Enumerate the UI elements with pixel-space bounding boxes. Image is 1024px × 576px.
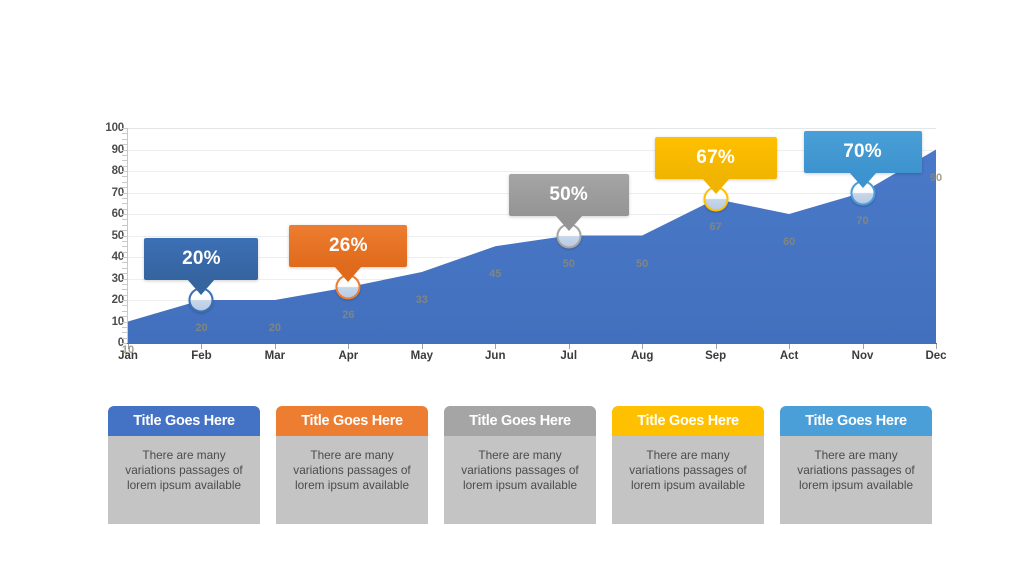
data-point-label: 60 bbox=[783, 236, 795, 248]
y-axis-minor-tick bbox=[122, 225, 127, 226]
y-axis-minor-tick bbox=[122, 279, 127, 280]
y-axis-minor-tick bbox=[122, 311, 127, 312]
card-title: Title Goes Here bbox=[612, 406, 764, 436]
y-axis-tick-label: 0 bbox=[96, 337, 124, 349]
y-axis-tick-label: 90 bbox=[96, 144, 124, 156]
y-axis-tick-label: 50 bbox=[96, 230, 124, 242]
card-body-text: There are many variations passages of lo… bbox=[276, 436, 428, 524]
x-axis-tick-label: Act bbox=[780, 350, 799, 362]
y-axis-minor-tick bbox=[122, 171, 127, 172]
y-axis-minor-tick bbox=[122, 139, 127, 140]
y-axis-minor-tick bbox=[122, 182, 127, 183]
data-point-label: 67 bbox=[710, 221, 722, 233]
x-axis-tick bbox=[348, 344, 349, 349]
y-axis-minor-tick bbox=[122, 193, 127, 194]
data-point-label: 50 bbox=[636, 258, 648, 270]
card-row: Title Goes HereThere are many variations… bbox=[108, 406, 933, 528]
y-axis-minor-tick bbox=[122, 252, 127, 253]
y-axis-minor-tick bbox=[122, 273, 127, 274]
y-axis-minor-tick bbox=[122, 268, 127, 269]
y-axis-minor-tick bbox=[122, 214, 127, 215]
x-axis-tick-label: Sep bbox=[705, 350, 726, 362]
y-axis-tick-label: 20 bbox=[96, 294, 124, 306]
percentage-callout[interactable]: 70% bbox=[804, 131, 922, 173]
percentage-callout[interactable]: 20% bbox=[144, 238, 258, 280]
y-axis-minor-tick bbox=[122, 262, 127, 263]
callout-tail bbox=[702, 178, 730, 194]
callout-tail bbox=[849, 172, 877, 188]
y-axis-tick-label: 40 bbox=[96, 251, 124, 263]
card-body-text: There are many variations passages of lo… bbox=[612, 436, 764, 524]
data-point-label: 90 bbox=[930, 172, 942, 184]
area-chart: 1009080706050403020100 JanFebMarAprMayJu… bbox=[0, 0, 1024, 380]
y-axis-minor-tick bbox=[122, 338, 127, 339]
x-axis-tick bbox=[716, 344, 717, 349]
info-card[interactable]: Title Goes HereThere are many variations… bbox=[108, 406, 260, 524]
y-axis-minor-tick bbox=[122, 128, 127, 129]
x-axis-tick bbox=[642, 344, 643, 349]
y-axis-minor-tick bbox=[122, 241, 127, 242]
y-axis-minor-tick bbox=[122, 198, 127, 199]
y-axis-minor-tick bbox=[122, 150, 127, 151]
x-axis-tick bbox=[863, 344, 864, 349]
x-axis-tick-label: Aug bbox=[631, 350, 653, 362]
info-card[interactable]: Title Goes HereThere are many variations… bbox=[444, 406, 596, 524]
y-axis-minor-tick bbox=[122, 160, 127, 161]
card-body-text: There are many variations passages of lo… bbox=[444, 436, 596, 524]
x-axis-tick-label: Jul bbox=[560, 350, 577, 362]
y-axis-tick-label: 30 bbox=[96, 273, 124, 285]
card-body-text: There are many variations passages of lo… bbox=[780, 436, 932, 524]
data-point-label: 33 bbox=[416, 294, 428, 306]
x-axis-tick bbox=[789, 344, 790, 349]
data-point-label: 26 bbox=[342, 309, 354, 321]
info-card[interactable]: Title Goes HereThere are many variations… bbox=[276, 406, 428, 524]
y-axis-minor-tick bbox=[122, 246, 127, 247]
x-axis-tick-label: Apr bbox=[338, 350, 358, 362]
x-axis-tick bbox=[422, 344, 423, 349]
x-axis-tick bbox=[569, 344, 570, 349]
y-axis-tick-label: 70 bbox=[96, 187, 124, 199]
y-axis-minor-tick bbox=[122, 203, 127, 204]
card-body-text: There are many variations passages of lo… bbox=[108, 436, 260, 524]
y-axis-minor-tick bbox=[122, 219, 127, 220]
y-axis: 1009080706050403020100 bbox=[96, 0, 124, 380]
callout-tail bbox=[187, 279, 215, 295]
y-axis-minor-tick bbox=[122, 166, 127, 167]
card-title: Title Goes Here bbox=[108, 406, 260, 436]
y-axis-minor-tick bbox=[122, 236, 127, 237]
data-point-label: 20 bbox=[195, 322, 207, 334]
y-axis-tick-label: 100 bbox=[96, 122, 124, 134]
x-axis-tick bbox=[275, 344, 276, 349]
y-axis-minor-tick bbox=[122, 144, 127, 145]
x-axis-tick-label: Jun bbox=[485, 350, 505, 362]
y-axis-minor-tick bbox=[122, 289, 127, 290]
y-axis-minor-tick bbox=[122, 133, 127, 134]
y-axis-minor-tick bbox=[122, 295, 127, 296]
y-axis-tick-label: 60 bbox=[96, 208, 124, 220]
percentage-callout[interactable]: 26% bbox=[289, 225, 407, 267]
y-axis-tick-label: 10 bbox=[96, 316, 124, 328]
y-axis-minor-tick bbox=[122, 284, 127, 285]
data-point-label: 45 bbox=[489, 268, 501, 280]
data-point-label: 70 bbox=[856, 215, 868, 227]
y-axis-minor-tick bbox=[122, 305, 127, 306]
x-axis-tick bbox=[936, 344, 937, 349]
card-title: Title Goes Here bbox=[444, 406, 596, 436]
x-axis-tick bbox=[495, 344, 496, 349]
x-axis-tick-label: Mar bbox=[265, 350, 285, 362]
data-point-label: 10 bbox=[122, 344, 134, 356]
y-axis-minor-tick bbox=[122, 155, 127, 156]
card-title: Title Goes Here bbox=[276, 406, 428, 436]
infographic-slide: 1009080706050403020100 JanFebMarAprMayJu… bbox=[0, 0, 1024, 576]
y-axis-minor-tick bbox=[122, 209, 127, 210]
y-axis-minor-tick bbox=[122, 316, 127, 317]
x-axis-tick bbox=[201, 344, 202, 349]
y-axis-minor-tick bbox=[122, 300, 127, 301]
y-axis-minor-tick bbox=[122, 257, 127, 258]
y-axis-minor-tick bbox=[122, 176, 127, 177]
y-axis-minor-tick bbox=[122, 332, 127, 333]
card-title: Title Goes Here bbox=[780, 406, 932, 436]
info-card[interactable]: Title Goes HereThere are many variations… bbox=[612, 406, 764, 524]
x-axis-tick-label: May bbox=[411, 350, 433, 362]
x-axis-tick-label: Nov bbox=[852, 350, 874, 362]
y-axis-minor-tick bbox=[122, 322, 127, 323]
callout-tail bbox=[555, 215, 583, 231]
x-axis-tick-label: Feb bbox=[191, 350, 211, 362]
y-axis-tick-label: 80 bbox=[96, 165, 124, 177]
percentage-callout[interactable]: 67% bbox=[655, 137, 777, 179]
percentage-callout[interactable]: 50% bbox=[509, 174, 629, 216]
y-axis-minor-tick bbox=[122, 327, 127, 328]
x-axis-tick-label: Dec bbox=[925, 350, 946, 362]
data-point-label: 50 bbox=[563, 258, 575, 270]
y-axis-minor-tick bbox=[122, 187, 127, 188]
y-axis-minor-tick bbox=[122, 230, 127, 231]
data-point-label: 20 bbox=[269, 322, 281, 334]
y-axis-minor-tick bbox=[122, 343, 127, 344]
callout-tail bbox=[334, 266, 362, 282]
info-card[interactable]: Title Goes HereThere are many variations… bbox=[780, 406, 932, 524]
